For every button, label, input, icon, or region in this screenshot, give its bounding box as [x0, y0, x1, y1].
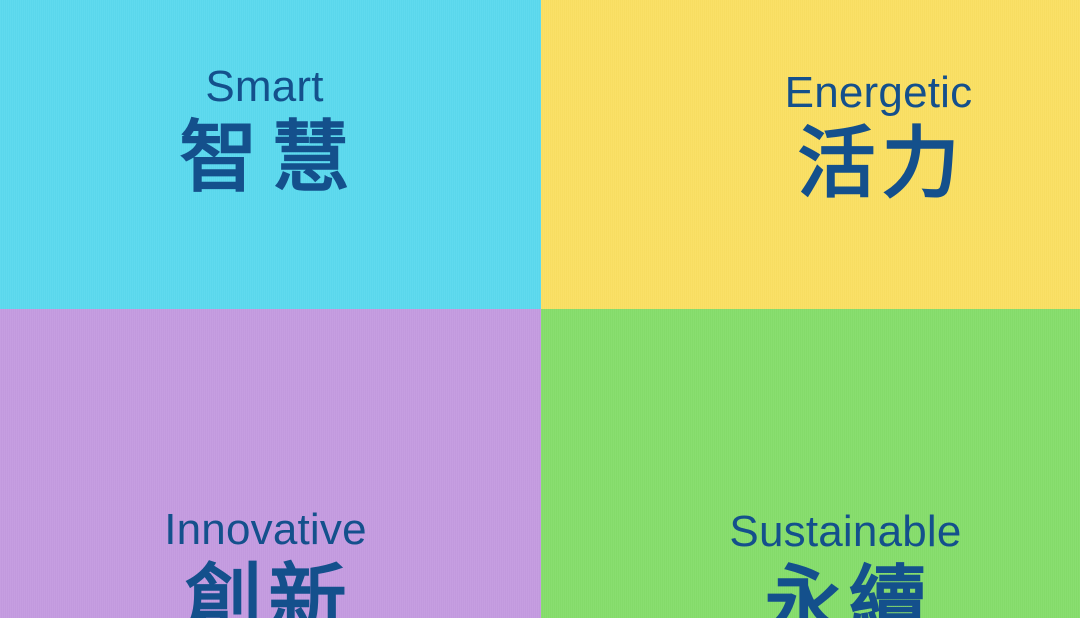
quadrant-energetic-label-zh: 活力 [791, 122, 965, 208]
quadrant-innovative-text-stack: Innovative 創新 [164, 507, 367, 618]
quadrant-energetic-text-stack: Energetic 活力 [785, 70, 973, 208]
quadrant-smart-label-en: Smart [205, 64, 323, 110]
quadrant-sustainable: Sustainable 永續 [541, 309, 1080, 618]
brand-values-poster: Smart 智慧 Energetic 活力 Innovative 創新 Sust… [0, 0, 1080, 618]
quadrant-innovative: Innovative 創新 [0, 309, 541, 618]
quadrant-sustainable-text-stack: Sustainable 永續 [729, 509, 961, 618]
quadrant-smart-label-zh: 智慧 [165, 116, 363, 202]
quadrant-sustainable-label-en: Sustainable [729, 509, 961, 555]
quadrant-innovative-label-zh: 創新 [178, 559, 352, 618]
quadrant-energetic-label-en: Energetic [785, 70, 973, 116]
quadrant-innovative-label-en: Innovative [164, 507, 367, 553]
quadrant-smart-text-stack: Smart 智慧 [165, 64, 363, 202]
quadrant-smart: Smart 智慧 [0, 0, 541, 309]
quadrant-sustainable-label-zh: 永續 [758, 561, 932, 618]
quadrant-energetic: Energetic 活力 [541, 0, 1080, 309]
